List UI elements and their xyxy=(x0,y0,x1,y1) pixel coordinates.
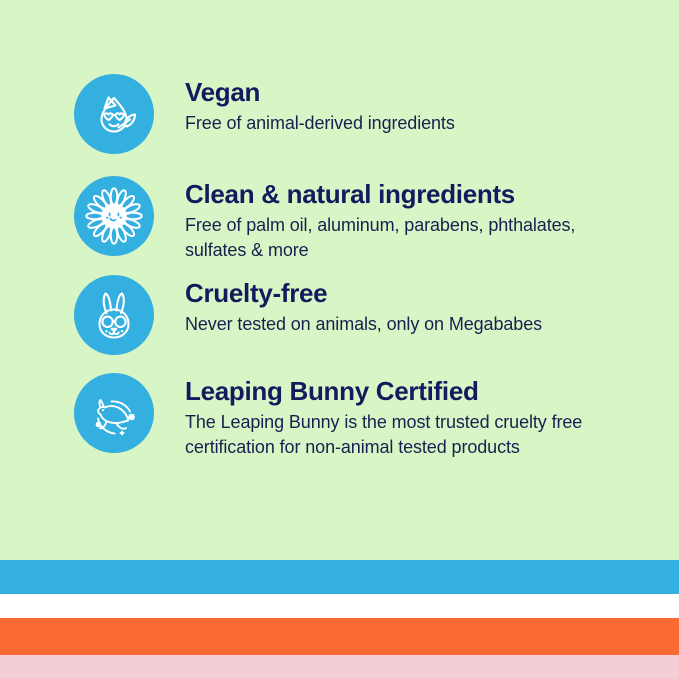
leaping-bunny-icon xyxy=(74,373,154,453)
feature-text-vegan: Vegan Free of animal-derived ingredients xyxy=(185,74,639,136)
blue-stripe xyxy=(0,560,679,594)
feature-list: Vegan Free of animal-derived ingredients xyxy=(0,0,679,560)
feature-description: Free of animal-derived ingredients xyxy=(185,111,639,136)
feature-title: Vegan xyxy=(185,78,639,107)
feature-text-clean-natural: Clean & natural ingredients Free of palm… xyxy=(185,176,639,263)
feature-description: The Leaping Bunny is the most trusted cr… xyxy=(185,410,639,460)
feature-item-clean-natural: Clean & natural ingredients Free of palm… xyxy=(74,176,639,263)
feature-title: Leaping Bunny Certified xyxy=(185,377,639,406)
feature-text-leaping-bunny: Leaping Bunny Certified The Leaping Bunn… xyxy=(185,373,639,460)
feature-description: Never tested on animals, only on Megabab… xyxy=(185,312,639,337)
feature-text-cruelty-free: Cruelty-free Never tested on animals, on… xyxy=(185,275,639,337)
feature-title: Cruelty-free xyxy=(185,279,639,308)
bunny-face-glasses-icon xyxy=(74,275,154,355)
feature-item-vegan: Vegan Free of animal-derived ingredients xyxy=(74,74,639,154)
daisy-flower-face-icon xyxy=(74,176,154,256)
color-stripe-band xyxy=(0,560,679,679)
benefits-poster: Vegan Free of animal-derived ingredients xyxy=(0,0,679,679)
feature-title: Clean & natural ingredients xyxy=(185,180,639,209)
orange-stripe xyxy=(0,618,679,655)
pink-stripe xyxy=(0,655,679,679)
feature-description: Free of palm oil, aluminum, parabens, ph… xyxy=(185,213,639,263)
feature-item-leaping-bunny: Leaping Bunny Certified The Leaping Bunn… xyxy=(74,373,639,460)
vegan-droplet-face-icon xyxy=(74,74,154,154)
feature-item-cruelty-free: Cruelty-free Never tested on animals, on… xyxy=(74,275,639,355)
white-stripe xyxy=(0,594,679,618)
